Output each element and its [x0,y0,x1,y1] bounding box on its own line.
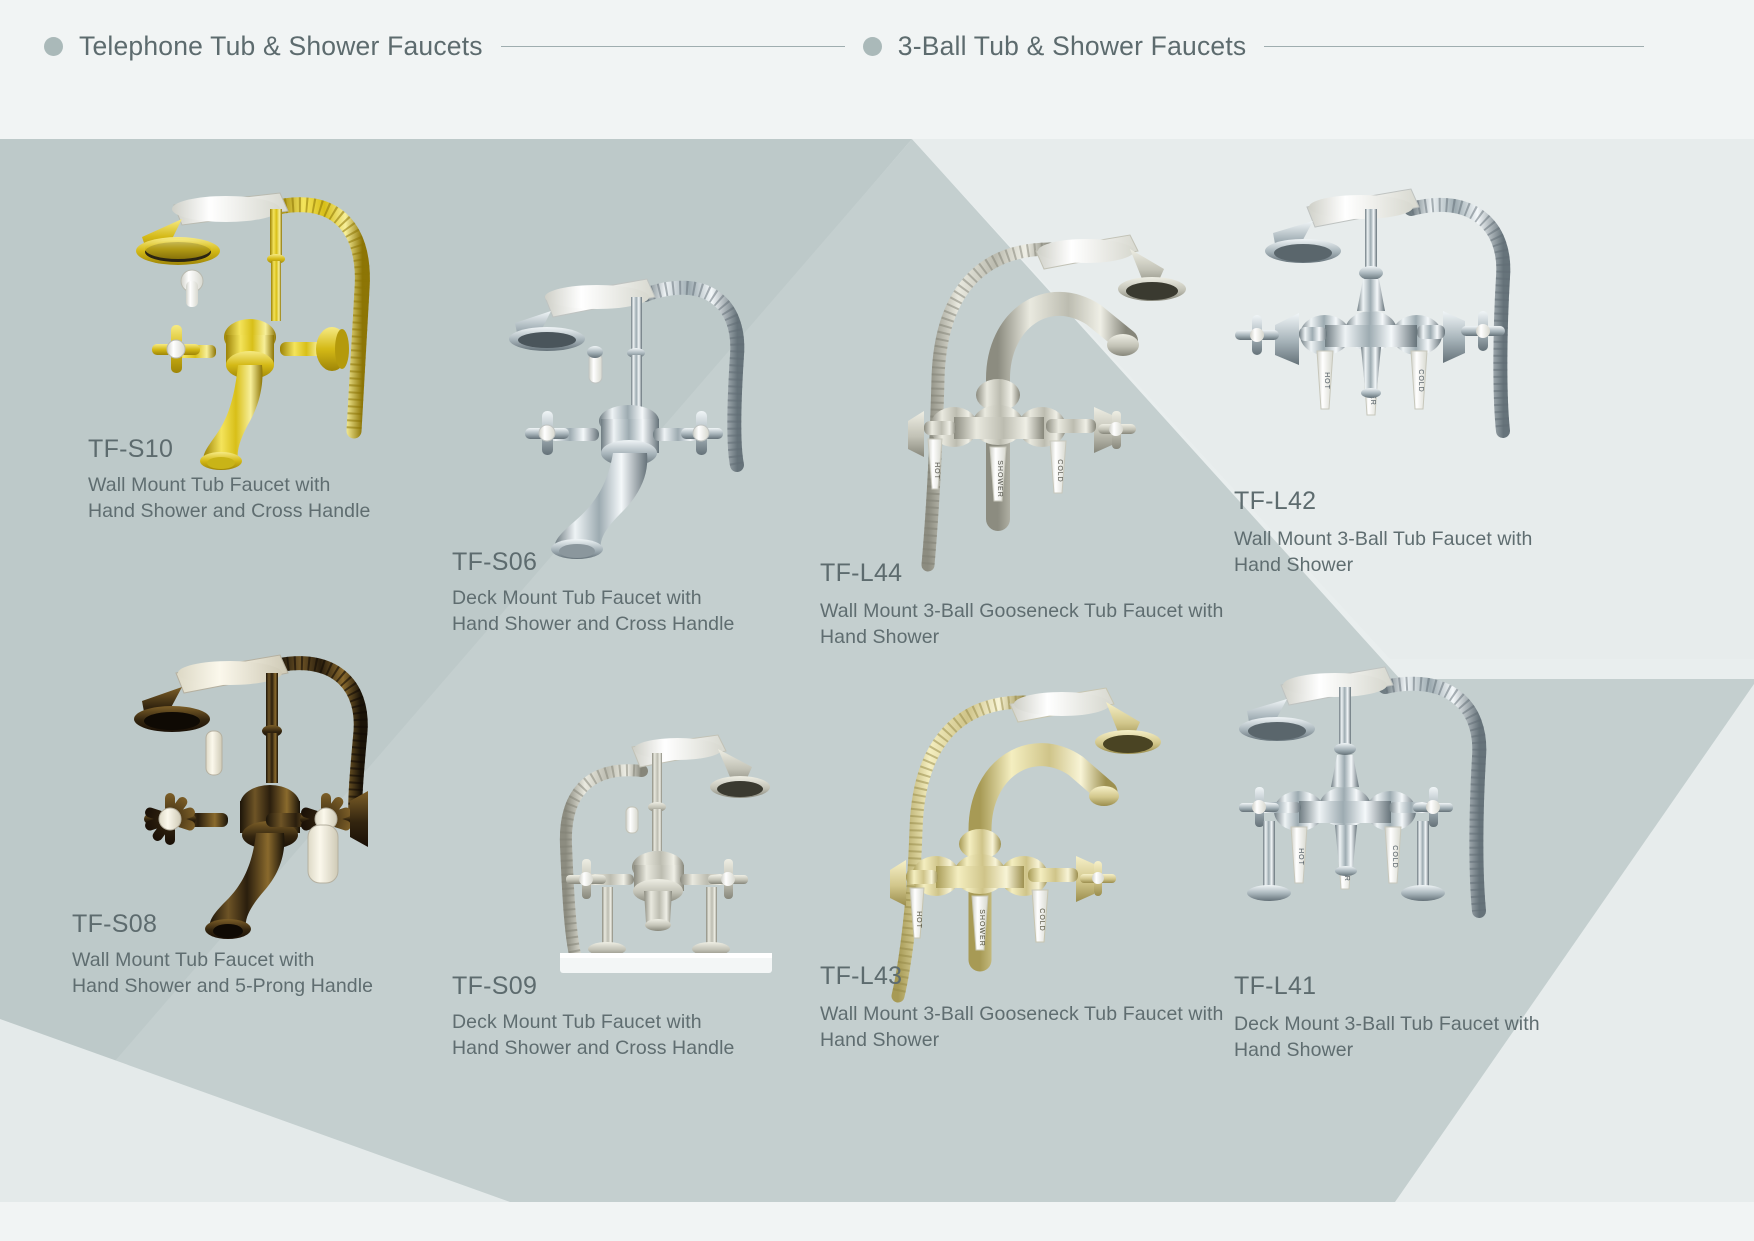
product-tf-l42[interactable]: TF-L42 Wall Mount 3-Ball Tub Faucet with… [1234,486,1564,578]
product-image-tf-l41: HOT SHOWER COLD [1195,639,1515,989]
product-code: TF-S08 [72,909,412,939]
desc-line-1: Deck Mount Tub Faucet with [452,1009,792,1035]
header-rule-left [501,46,845,47]
product-description: Wall Mount 3-Ball Tub Faucet with Hand S… [1234,526,1564,578]
product-description: Deck Mount Tub Faucet with Hand Shower a… [452,585,782,637]
product-image-tf-l43: HOT SHOWER COLD [870,644,1170,1014]
product-code: TF-L42 [1234,486,1564,516]
product-tf-s06[interactable]: TF-S06 Deck Mount Tub Faucet with Hand S… [452,547,782,637]
desc-line-1: Deck Mount Tub Faucet with [452,585,782,611]
product-tf-l41[interactable]: TF-L41 Deck Mount 3-Ball Tub Faucet with… [1234,971,1574,1063]
desc-line-1: Wall Mount Tub Faucet with [72,947,412,973]
product-description: Wall Mount 3-Ball Gooseneck Tub Faucet w… [820,1001,1220,1053]
desc-line-2: Hand Shower [1234,552,1564,578]
svg-text:SHOWER: SHOWER [978,909,985,947]
svg-text:HOT: HOT [1297,848,1304,866]
product-code: TF-S06 [452,547,782,577]
desc-line-2: Hand Shower and Cross Handle [452,1035,792,1061]
desc-line-2: Hand Shower and Cross Handle [88,498,418,524]
svg-text:COLD: COLD [1038,908,1045,931]
product-image-tf-s06 [505,249,775,559]
product-code: TF-S09 [452,971,792,1001]
svg-text:COLD: COLD [1391,845,1398,868]
svg-text:SHOWER: SHOWER [996,460,1003,498]
product-image-tf-s09 [540,709,790,999]
catalog-page: Telephone Tub & Shower Faucets 3-Ball Tu… [0,0,1754,1241]
svg-text:HOT: HOT [933,462,940,480]
product-code: TF-L43 [820,961,1240,991]
product-tf-s08[interactable]: TF-S08 Wall Mount Tub Faucet with Hand S… [72,909,412,999]
svg-text:COLD: COLD [1417,369,1424,392]
category-header-3ball: 3-Ball Tub & Shower Faucets [863,26,1663,66]
desc-line-1: Deck Mount 3-Ball Tub Faucet with [1234,1011,1574,1037]
svg-text:HOT: HOT [1323,372,1330,390]
product-description: Deck Mount Tub Faucet with Hand Shower a… [452,1009,792,1061]
desc-line-1: Wall Mount 3-Ball Gooseneck Tub Faucet w… [820,1001,1220,1027]
product-code: TF-L44 [820,558,1240,588]
product-tf-s09[interactable]: TF-S09 Deck Mount Tub Faucet with Hand S… [452,971,792,1061]
product-image-tf-l44: HOT SHOWER COLD [880,189,1190,589]
category-title-telephone: Telephone Tub & Shower Faucets [79,31,483,62]
product-tf-s10[interactable]: TF-S10 Wall Mount Tub Faucet with Hand S… [88,434,418,524]
product-tf-l44[interactable]: TF-L44 Wall Mount 3-Ball Gooseneck Tub F… [820,558,1240,650]
product-description: Wall Mount Tub Faucet with Hand Shower a… [72,947,412,999]
product-image-tf-l42: HOT SHOWER COLD [1215,159,1535,499]
desc-line-2: Hand Shower and Cross Handle [452,611,782,637]
category-title-3ball: 3-Ball Tub & Shower Faucets [898,31,1247,62]
product-code: TF-S10 [88,434,418,464]
product-description: Deck Mount 3-Ball Tub Faucet with Hand S… [1234,1011,1574,1063]
svg-text:COLD: COLD [1056,459,1063,482]
category-header-telephone: Telephone Tub & Shower Faucets [44,26,863,66]
svg-text:HOT: HOT [915,911,922,929]
page-header: Telephone Tub & Shower Faucets 3-Ball Tu… [0,0,1754,159]
bullet-icon [863,37,882,56]
product-description: Wall Mount Tub Faucet with Hand Shower a… [88,472,418,524]
page-footer [0,1202,1754,1241]
desc-line-2: Hand Shower [820,1027,1220,1053]
bullet-icon [44,37,63,56]
header-rule-right [1264,46,1644,47]
product-board: TF-S10 Wall Mount Tub Faucet with Hand S… [0,139,1754,1202]
product-code: TF-L41 [1234,971,1574,1001]
desc-line-1: Wall Mount Tub Faucet with [88,472,418,498]
product-tf-l43[interactable]: TF-L43 Wall Mount 3-Ball Gooseneck Tub F… [820,961,1240,1053]
desc-line-1: Wall Mount 3-Ball Tub Faucet with [1234,526,1564,552]
product-description: Wall Mount 3-Ball Gooseneck Tub Faucet w… [820,598,1220,650]
desc-line-2: Hand Shower [1234,1037,1574,1063]
desc-line-1: Wall Mount 3-Ball Gooseneck Tub Faucet w… [820,598,1220,624]
desc-line-2: Hand Shower and 5-Prong Handle [72,973,412,999]
